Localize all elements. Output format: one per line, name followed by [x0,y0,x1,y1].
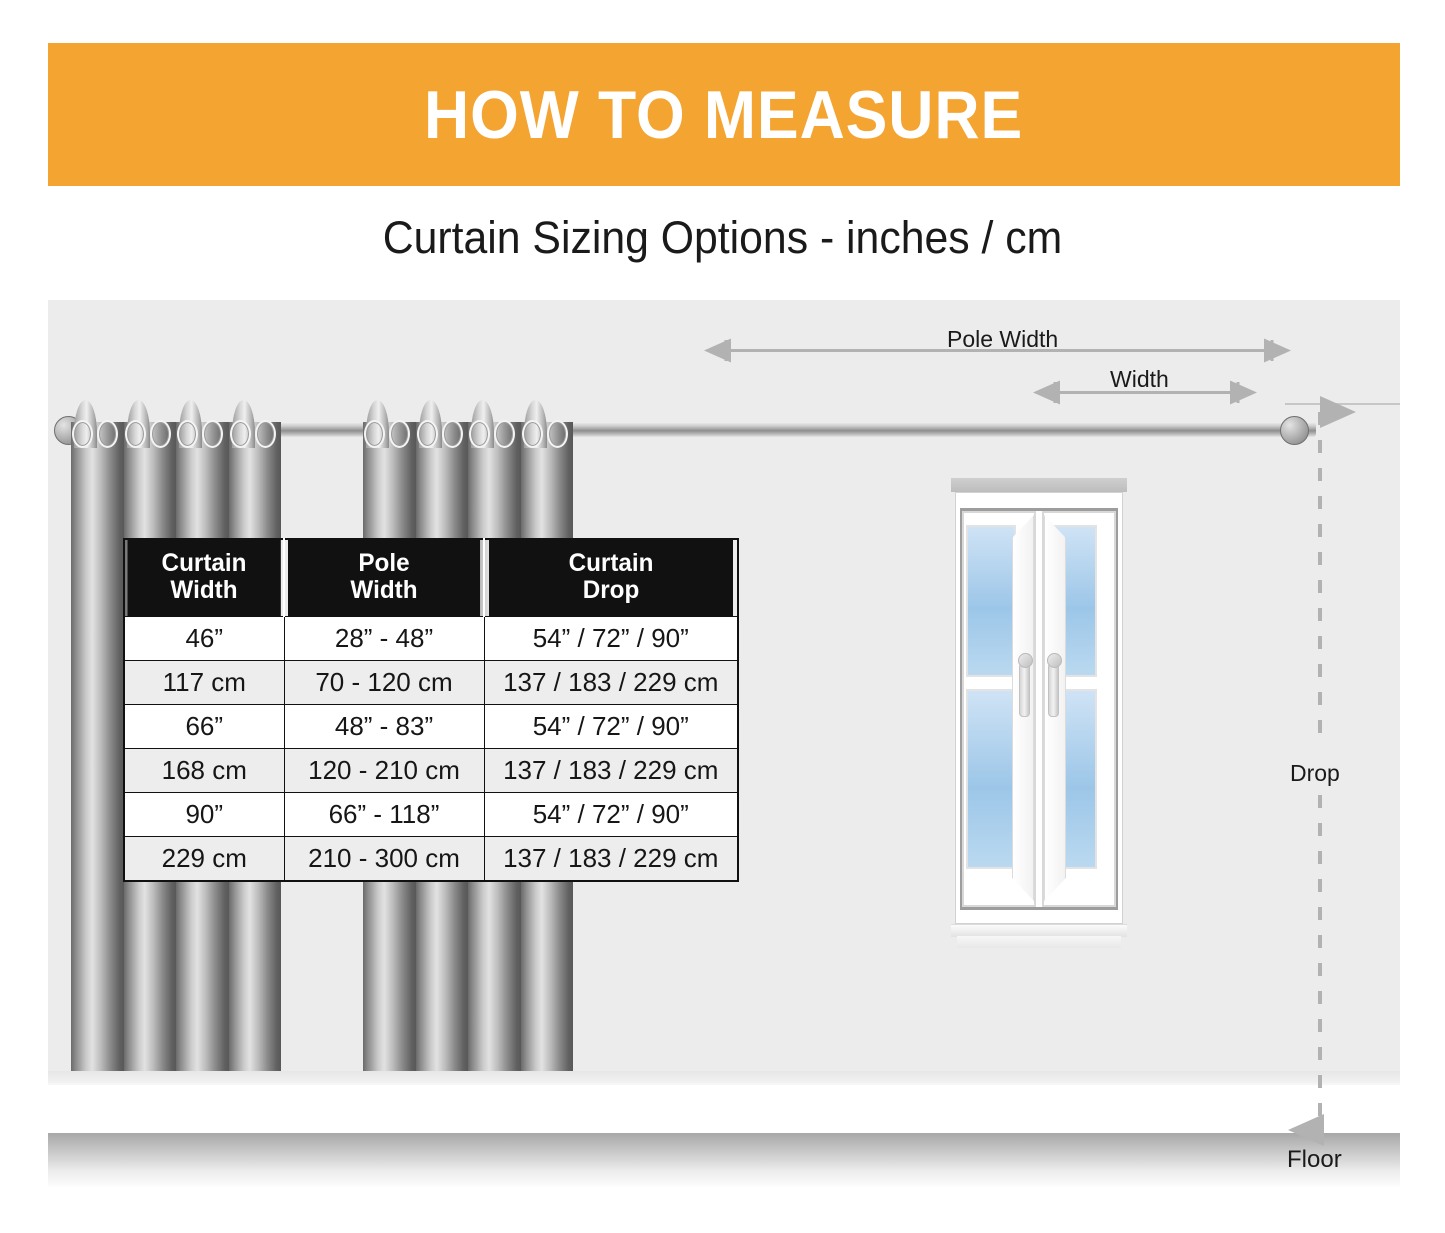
eyelet-icon [522,420,543,448]
pole-width-label: Pole Width [947,326,1058,353]
cell-curtain-width: 229 cm [124,837,284,882]
cell-curtain-drop: 137 / 183 / 229 cm [484,661,738,705]
eyelet-icon [150,420,171,448]
page-title: HOW TO MEASURE [424,81,1023,149]
curtain-pleat [71,400,124,1085]
window-handle-icon [1019,663,1030,717]
cell-pole-width: 48” - 83” [284,705,484,749]
cell-curtain-drop: 137 / 183 / 229 cm [484,749,738,793]
cell-pole-width: 28” - 48” [284,617,484,661]
column-header-curtain-width: Curtain Width [126,539,281,617]
eyelet-icon [417,420,438,448]
curtain-sizing-table: Curtain Width Pole Width Curtain Drop 46… [123,538,739,882]
eyelet-icon [364,420,385,448]
table-row: 90” 66” - 118” 54” / 72” / 90” [124,793,738,837]
window-handle-icon [1048,663,1059,717]
subtitle: Curtain Sizing Options - inches / cm [36,212,1409,264]
pole-finial-right [1280,416,1309,445]
column-header-line2: Width [294,577,474,604]
table-row: 229 cm 210 - 300 cm 137 / 183 / 229 cm [124,837,738,882]
eyelet-icon [72,420,93,448]
column-header-line1: Pole [294,550,474,577]
cell-curtain-width: 168 cm [124,749,284,793]
table-row: 168 cm 120 - 210 cm 137 / 183 / 229 cm [124,749,738,793]
cell-pole-width: 120 - 210 cm [284,749,484,793]
floor-band [48,1133,1400,1187]
column-header-pole-width: Pole Width [287,539,481,617]
wall-baseline [48,1083,1400,1085]
window-apron [957,936,1121,948]
column-header-line1: Curtain [495,550,728,577]
eyelet-icon [230,420,251,448]
cell-pole-width: 66” - 118” [284,793,484,837]
cell-curtain-drop: 54” / 72” / 90” [484,617,738,661]
floor-label: Floor [1287,1146,1342,1174]
column-header-line1: Curtain [133,550,275,577]
eyelet-icon [442,420,463,448]
cell-pole-width: 210 - 300 cm [284,837,484,882]
cell-curtain-width: 117 cm [124,661,284,705]
eyelet-icon [177,420,198,448]
table-row: 46” 28” - 48” 54” / 72” / 90” [124,617,738,661]
header-banner: HOW TO MEASURE [48,43,1400,186]
drop-label: Drop [1290,760,1340,787]
table-row: 117 cm 70 - 120 cm 137 / 183 / 229 cm [124,661,738,705]
cell-curtain-width: 90” [124,793,284,837]
eyelet-icon [125,420,146,448]
eyelet-icon [255,420,276,448]
table-header-row: Curtain Width Pole Width Curtain Drop [124,539,738,617]
column-header-line2: Drop [495,577,728,604]
column-header-line2: Width [133,577,275,604]
window-pane [966,525,1016,677]
cell-curtain-drop: 54” / 72” / 90” [484,793,738,837]
cell-curtain-drop: 137 / 183 / 229 cm [484,837,738,882]
wall-skirting [48,1071,1400,1083]
pleat-body [71,422,124,1085]
cell-curtain-drop: 54” / 72” / 90” [484,705,738,749]
eyelet-icon [469,420,490,448]
eyelet-icon [547,420,568,448]
window-lintel [951,478,1127,492]
cell-pole-width: 70 - 120 cm [284,661,484,705]
table-row: 66” 48” - 83” 54” / 72” / 90” [124,705,738,749]
cell-curtain-width: 46” [124,617,284,661]
cell-curtain-width: 66” [124,705,284,749]
window-pane [966,689,1016,869]
column-header-curtain-drop: Curtain Drop [488,539,734,617]
window-sash-right [1042,511,1116,907]
width-label: Width [1110,366,1169,393]
window-illustration [951,478,1127,968]
window-sash-left [962,511,1036,907]
